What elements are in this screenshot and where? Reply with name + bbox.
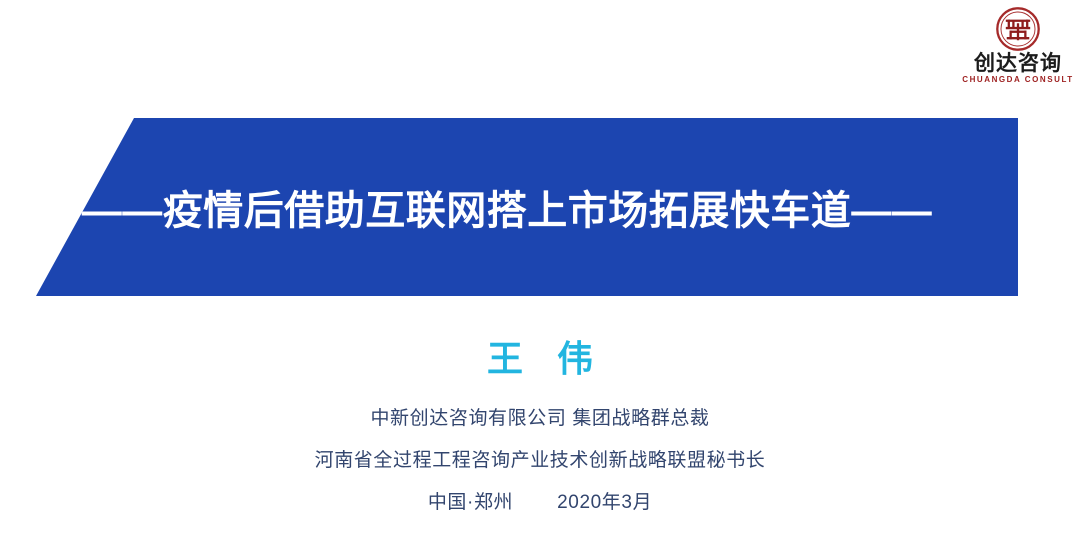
venue-date-line: 中国·郑州2020年3月: [0, 487, 1080, 514]
venue-text: 中国·郑州: [428, 492, 513, 513]
presenter-credential-primary: 中新创达咨询有限公司 集团战略群总裁: [0, 403, 1080, 430]
company-logo: 创达咨询 CHUANGDA CONSULT: [962, 6, 1074, 90]
logo-company-name-en: CHUANGDA CONSULT: [962, 76, 1073, 84]
circular-seal-icon: [995, 6, 1041, 52]
slide-title: ——疫情后借助互联网搭上市场拓展快车道——: [0, 112, 1020, 302]
presenter-credential-secondary: 河南省全过程工程咨询产业技术创新战略联盟秘书长: [0, 445, 1080, 472]
logo-company-name-cn: 创达咨询: [974, 53, 1062, 75]
presenter-name: 王 伟: [0, 330, 1080, 382]
presentation-slide: 创达咨询 CHUANGDA CONSULT ——疫情后借助互联网搭上市场拓展快车…: [0, 0, 1080, 554]
title-banner: ——疫情后借助互联网搭上市场拓展快车道——: [0, 112, 1020, 302]
date-text: 2020年3月: [557, 492, 652, 513]
